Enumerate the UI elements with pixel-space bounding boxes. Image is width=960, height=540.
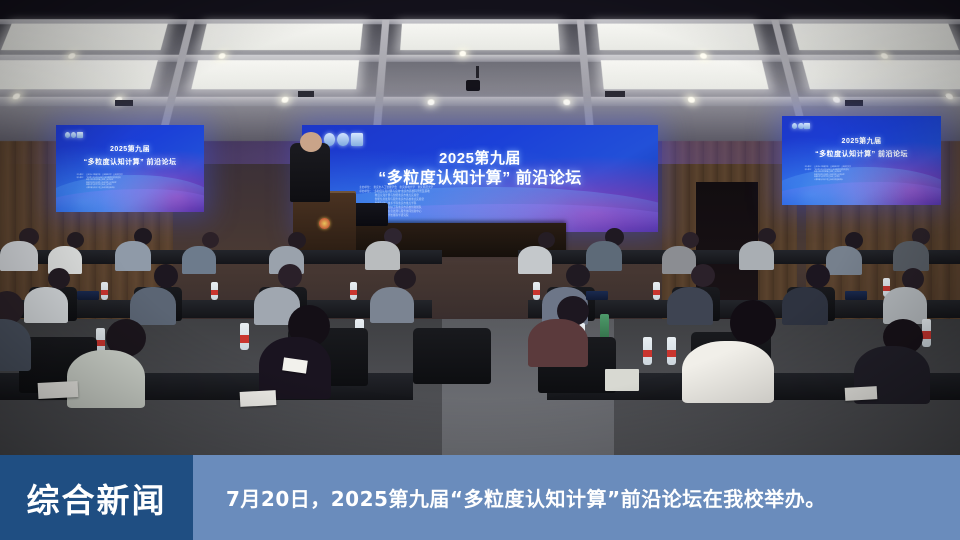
audience-head bbox=[691, 264, 715, 287]
podium-emblem bbox=[319, 218, 330, 229]
caption-headline: 7月20日，2025第九届“多粒度认知计算”前沿论坛在我校举办。 bbox=[226, 483, 826, 512]
audience-person bbox=[518, 246, 552, 274]
screen-title-line2: “多粒度认知计算” 前沿论坛 bbox=[302, 164, 657, 188]
audience-person bbox=[883, 287, 927, 324]
organizer-logo-2 bbox=[337, 133, 349, 146]
right-screen-title-line1: 2025第九届 bbox=[782, 136, 940, 146]
organizer-logo-2 bbox=[71, 132, 76, 138]
audience-person bbox=[826, 246, 862, 275]
organizer-logo-3 bbox=[351, 133, 363, 146]
audience-head bbox=[154, 264, 178, 288]
audience-person bbox=[370, 287, 414, 323]
screen-logo-row bbox=[324, 133, 363, 146]
ceiling-light-panel bbox=[601, 60, 769, 89]
audience-person bbox=[24, 287, 68, 323]
ceiling-projector bbox=[466, 80, 480, 91]
audience-person bbox=[782, 287, 828, 325]
organizer-logo-3 bbox=[804, 123, 809, 129]
audience-person bbox=[0, 241, 38, 271]
side-logo-row-left bbox=[65, 132, 83, 138]
organizer-logo-1 bbox=[65, 132, 70, 138]
side-logo-row-right bbox=[792, 123, 810, 129]
right-screen-body: 主办单位： 重庆市人工智能学会 重庆邮电大学 重庆师范大学 承办单位： “多粒度… bbox=[805, 167, 851, 182]
caption-text-area: 7月20日，2025第九届“多粒度认知计算”前沿论坛在我校举办。 bbox=[193, 455, 960, 540]
laptop bbox=[77, 291, 99, 300]
audience-person bbox=[365, 241, 400, 270]
caption-bar: 综合新闻 7月20日，2025第九届“多粒度认知计算”前沿论坛在我校举办。 bbox=[0, 455, 960, 540]
handout-paper bbox=[240, 390, 277, 407]
ceiling-vent bbox=[605, 91, 625, 97]
ceiling-light-panel bbox=[597, 23, 759, 49]
left-screen-title-line1: 2025第九届 bbox=[56, 144, 205, 154]
audience-person bbox=[893, 241, 929, 271]
audience-person bbox=[586, 241, 622, 271]
audience-person bbox=[667, 287, 713, 325]
speaker-person bbox=[290, 143, 330, 202]
ceiling-light-panel bbox=[0, 60, 158, 89]
audience-head bbox=[730, 300, 776, 346]
ceiling-vent bbox=[298, 91, 314, 97]
laptop bbox=[586, 291, 608, 300]
organizer-logo-3 bbox=[77, 132, 82, 138]
right-screen-title-line2: “多粒度认知计算” 前沿论坛 bbox=[782, 149, 940, 159]
news-category-tag[interactable]: 综合新闻 bbox=[0, 455, 193, 540]
organizer-logo-2 bbox=[798, 123, 803, 129]
left-screen-title-line2: “多粒度认知计算” 前沿论坛 bbox=[56, 157, 205, 167]
speaker-head bbox=[300, 132, 322, 152]
right-led-screen: 2025第九届 “多粒度认知计算” 前沿论坛 主办单位： 重庆市人工智能学会 重… bbox=[782, 116, 940, 205]
audience-person bbox=[739, 241, 774, 270]
ceiling-vent bbox=[845, 100, 863, 106]
audience-person bbox=[182, 246, 216, 274]
screenshot-root: 2025第九届 “多粒度认知计算” 前沿论坛 主办单位： 重庆市人工智能学会 重… bbox=[0, 0, 960, 540]
laptop bbox=[845, 291, 867, 300]
organizer-logo-1 bbox=[792, 123, 797, 129]
ceiling-light-panel bbox=[792, 23, 959, 49]
projector-mount bbox=[476, 66, 479, 78]
audience-person bbox=[130, 287, 176, 325]
left-screen-body: 主办单位： 重庆市人工智能学会 重庆邮电大学 重庆师范大学 承办单位： “多粒度… bbox=[77, 175, 123, 190]
left-led-screen: 2025第九届 “多粒度认知计算” 前沿论坛 主办单位： 重庆市人工智能学会 重… bbox=[56, 125, 205, 211]
ceiling-light-panel bbox=[400, 23, 560, 49]
laptop bbox=[605, 369, 639, 391]
handout-paper bbox=[38, 381, 79, 399]
ceiling-light-panel bbox=[802, 60, 960, 89]
ceiling-light-panel bbox=[1, 23, 168, 49]
audience-person bbox=[115, 241, 151, 271]
ceiling-light-panel bbox=[201, 23, 363, 49]
news-category-label: 综合新闻 bbox=[27, 474, 167, 522]
audience-person bbox=[528, 319, 588, 367]
ceiling-vent bbox=[115, 100, 133, 106]
conference-photo: 2025第九届 “多粒度认知计算” 前沿论坛 主办单位： 重庆市人工智能学会 重… bbox=[0, 0, 960, 455]
ceiling-light-panel bbox=[191, 60, 359, 89]
handout-paper bbox=[844, 386, 877, 401]
screen-title-line1: 2025第九届 bbox=[302, 147, 657, 168]
audience-person bbox=[67, 350, 145, 408]
audience-person bbox=[682, 341, 774, 403]
